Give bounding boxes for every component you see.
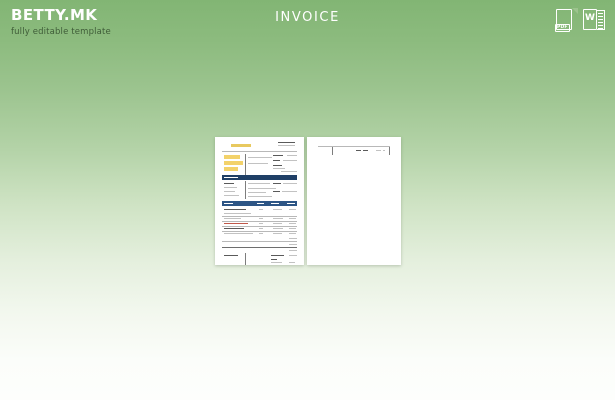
invoice-logo-chip xyxy=(231,144,251,147)
page-header: BETTY.MK fully editable template INVOICE… xyxy=(0,0,615,52)
invoice-line-item xyxy=(273,228,283,229)
template-preview-stage: BETTY.MK fully editable template INVOICE… xyxy=(0,0,615,400)
invoice-footer-right xyxy=(271,255,284,256)
page-title: INVOICE xyxy=(0,10,615,25)
invoice-page2-divider xyxy=(332,147,333,155)
invoice-row-rule xyxy=(222,221,297,222)
invoice-line-item xyxy=(273,233,282,234)
invoice-page-2-content xyxy=(307,137,401,265)
invoice-page2-header-cell xyxy=(363,150,368,151)
invoice-line-item-accent xyxy=(224,223,248,224)
invoice-meta-line xyxy=(287,155,297,156)
invoice-footer-right xyxy=(271,259,277,260)
invoice-page2-header-cell xyxy=(383,150,385,151)
invoice-page2-top-rule xyxy=(318,146,390,147)
pdf-fold-shape xyxy=(572,8,578,14)
invoice-page2-header-cell xyxy=(356,150,361,151)
invoice-line-item xyxy=(259,233,263,234)
invoice-billing-right xyxy=(273,191,280,192)
word-letter-label: W xyxy=(583,13,597,23)
invoice-footer-right xyxy=(289,262,295,263)
invoice-page-1-content xyxy=(215,137,304,265)
invoice-billing-line xyxy=(224,187,237,188)
invoice-line-item xyxy=(273,209,282,210)
pdf-file-icon[interactable]: PDF xyxy=(555,9,577,33)
pdf-badge-label: PDF xyxy=(555,24,570,32)
invoice-grand-total-rule xyxy=(222,247,297,248)
invoice-footer-divider xyxy=(245,253,246,265)
invoice-page-2[interactable] xyxy=(307,137,401,265)
invoice-line-item xyxy=(259,209,263,210)
invoice-line-item xyxy=(289,218,296,219)
invoice-billing-value xyxy=(248,196,272,197)
invoice-row-rule xyxy=(222,226,297,227)
invoice-meta-line xyxy=(273,168,285,169)
brand-tagline: fully editable template xyxy=(11,27,111,37)
invoice-line-item xyxy=(259,228,263,229)
invoice-row-rule xyxy=(222,216,297,217)
invoice-line-item xyxy=(289,223,296,224)
invoice-line-item xyxy=(224,233,253,234)
invoice-billing-line xyxy=(224,195,239,196)
invoice-billing-value xyxy=(248,188,276,189)
invoice-field-highlight xyxy=(224,167,238,171)
invoice-line-item xyxy=(259,218,263,219)
invoice-field-value xyxy=(248,157,272,158)
invoice-line-item xyxy=(273,218,283,219)
invoice-footer-right xyxy=(271,262,282,263)
invoice-page2-header-cell xyxy=(376,150,381,151)
invoice-billing-divider xyxy=(245,181,246,199)
invoice-section-bar-label xyxy=(224,177,238,178)
invoice-field-highlight xyxy=(224,155,240,159)
invoice-billing-line xyxy=(224,191,235,192)
invoice-top-rule xyxy=(222,151,297,152)
invoice-table-column-header xyxy=(257,203,264,204)
invoice-line-item xyxy=(289,209,296,210)
invoice-page-1[interactable] xyxy=(215,137,304,265)
invoice-row-rule xyxy=(222,231,297,232)
invoice-meta-line xyxy=(273,155,283,156)
invoice-footer-right xyxy=(289,255,297,256)
invoice-line-item xyxy=(289,233,296,234)
invoice-issuer-line xyxy=(278,145,295,146)
word-file-icon[interactable]: W xyxy=(583,9,605,33)
invoice-total-rule xyxy=(222,241,297,242)
invoice-meta-line xyxy=(283,160,297,161)
invoice-billing-right xyxy=(273,183,281,184)
invoice-field-highlight xyxy=(224,161,243,165)
invoice-line-item xyxy=(289,228,296,229)
invoice-page2-divider xyxy=(389,147,390,155)
invoice-meta-line xyxy=(281,171,297,172)
invoice-column-divider xyxy=(245,154,246,176)
invoice-meta-line xyxy=(273,160,280,161)
invoice-line-item xyxy=(259,223,263,224)
invoice-table-column-header xyxy=(271,203,279,204)
invoice-billing-value xyxy=(248,192,266,193)
invoice-billing-line xyxy=(224,183,234,184)
invoice-footer-note xyxy=(224,255,238,256)
invoice-line-item xyxy=(273,223,282,224)
invoice-field-value xyxy=(248,163,268,164)
word-pages-shape xyxy=(597,10,605,30)
invoice-meta-line xyxy=(273,165,282,166)
invoice-total-line xyxy=(289,238,297,239)
document-preview[interactable] xyxy=(215,137,401,265)
invoice-billing-right xyxy=(282,191,297,192)
invoice-table-column-header xyxy=(224,203,233,204)
invoice-line-item xyxy=(224,228,244,229)
invoice-table-column-header xyxy=(287,203,295,204)
invoice-line-item xyxy=(224,218,241,219)
invoice-issuer-line xyxy=(278,142,295,143)
invoice-total-line xyxy=(289,244,297,245)
invoice-billing-value xyxy=(248,183,270,184)
invoice-line-item xyxy=(224,209,246,210)
invoice-total-line xyxy=(289,250,297,251)
invoice-billing-right xyxy=(283,183,297,184)
invoice-line-item xyxy=(224,213,251,214)
download-format-icons: PDF W xyxy=(555,9,605,33)
